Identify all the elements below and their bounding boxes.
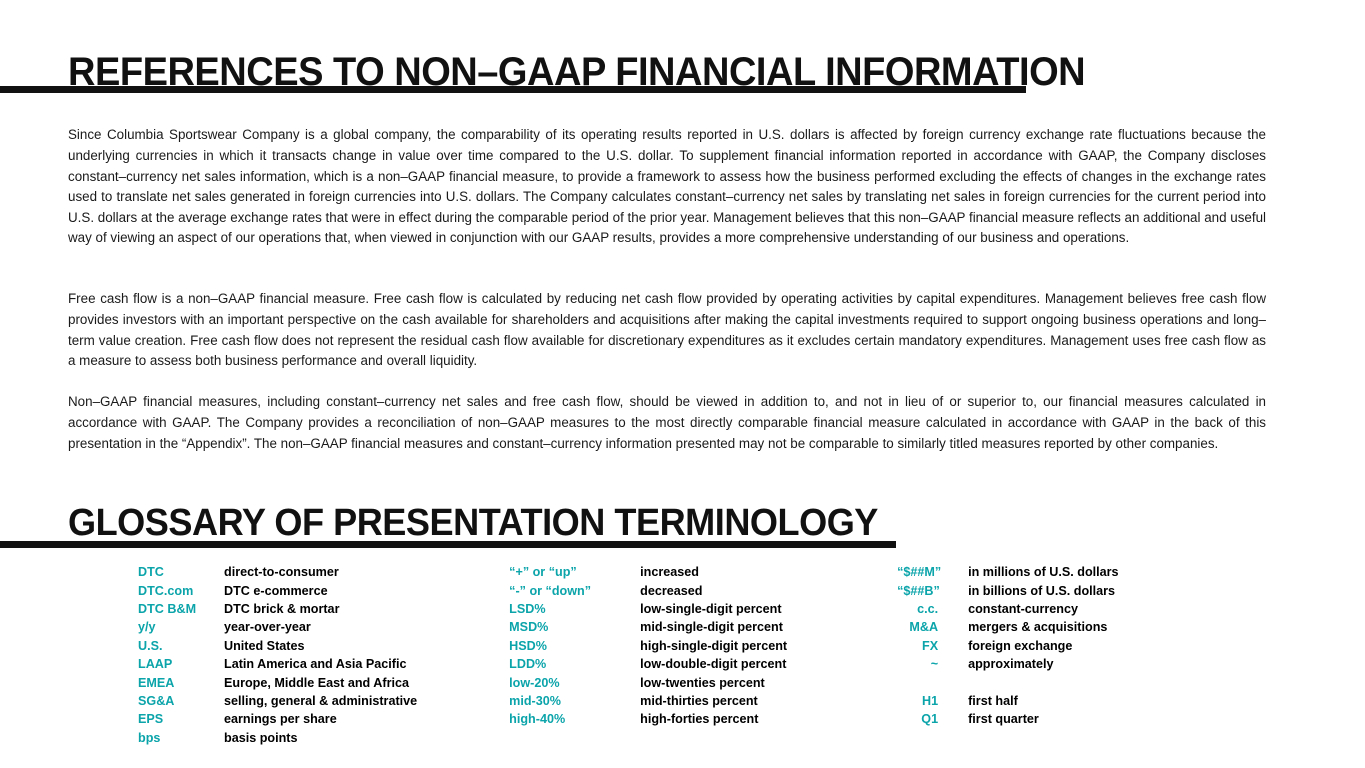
- glossary-definition: low-twenties percent: [640, 676, 787, 690]
- glossary-definition: mergers & acquisitions: [968, 620, 1118, 634]
- glossary-definition: increased: [640, 565, 787, 579]
- glossary-term: H1: [897, 694, 968, 708]
- glossary-term: EPS: [138, 712, 224, 726]
- glossary-definition: Europe, Middle East and Africa: [224, 676, 417, 690]
- glossary-term: U.S.: [138, 639, 224, 653]
- glossary-definition: mid-single-digit percent: [640, 620, 787, 634]
- glossary-term: FX: [897, 639, 968, 653]
- glossary-definition: earnings per share: [224, 712, 417, 726]
- glossary-term: low-20%: [509, 676, 640, 690]
- glossary-definition: low-single-digit percent: [640, 602, 787, 616]
- glossary-definition: high-single-digit percent: [640, 639, 787, 653]
- glossary-term: HSD%: [509, 639, 640, 653]
- title-divider-glossary: [0, 541, 896, 548]
- glossary-table: DTCdirect-to-consumerDTC.comDTC e-commer…: [0, 563, 1365, 747]
- glossary-term: “-” or “down”: [509, 584, 640, 598]
- glossary-term: LDD%: [509, 657, 640, 671]
- glossary-term: y/y: [138, 620, 224, 634]
- glossary-term: Q1: [897, 712, 968, 726]
- glossary-definition: year-over-year: [224, 620, 417, 634]
- glossary-term: ~: [897, 657, 968, 671]
- glossary-column-directional: “+” or “up”increased“-” or “down”decreas…: [509, 563, 787, 729]
- glossary-definition: foreign exchange: [968, 639, 1118, 653]
- glossary-definition: mid-thirties percent: [640, 694, 787, 708]
- glossary-term: LAAP: [138, 657, 224, 671]
- glossary-definition: direct-to-consumer: [224, 565, 417, 579]
- glossary-definition: basis points: [224, 731, 417, 745]
- glossary-definition: Latin America and Asia Pacific: [224, 657, 417, 671]
- glossary-definition: low-double-digit percent: [640, 657, 787, 671]
- glossary-definition: approximately: [968, 657, 1118, 671]
- glossary-definition: in billions of U.S. dollars: [968, 584, 1118, 598]
- glossary-definition: in millions of U.S. dollars: [968, 565, 1118, 579]
- glossary-definition: DTC e-commerce: [224, 584, 417, 598]
- glossary-term: DTC.com: [138, 584, 224, 598]
- glossary-term: DTC B&M: [138, 602, 224, 616]
- glossary-term: bps: [138, 731, 224, 745]
- glossary-definition: constant-currency: [968, 602, 1118, 616]
- glossary-term: “+” or “up”: [509, 565, 640, 579]
- glossary-definition: high-forties percent: [640, 712, 787, 726]
- title-divider-top: [0, 86, 1026, 93]
- glossary-definition: selling, general & administrative: [224, 694, 417, 708]
- glossary-term: MSD%: [509, 620, 640, 634]
- glossary-term: c.c.: [897, 602, 968, 616]
- glossary-term: high-40%: [509, 712, 640, 726]
- glossary-definition: United States: [224, 639, 417, 653]
- glossary-term: SG&A: [138, 694, 224, 708]
- paragraph-constant-currency: Since Columbia Sportswear Company is a g…: [68, 125, 1266, 249]
- glossary-definition: decreased: [640, 584, 787, 598]
- glossary-definition: first quarter: [968, 712, 1118, 726]
- glossary-column-units: “$##M”in millions of U.S. dollars“$##B”i…: [897, 563, 1118, 729]
- glossary-term: LSD%: [509, 602, 640, 616]
- glossary-definition: DTC brick & mortar: [224, 602, 417, 616]
- glossary-column-abbreviations: DTCdirect-to-consumerDTC.comDTC e-commer…: [138, 563, 417, 747]
- page-title-glossary: GLOSSARY OF PRESENTATION TERMINOLOGY: [68, 501, 878, 545]
- glossary-term: DTC: [138, 565, 224, 579]
- glossary-term: “$##M”: [897, 565, 968, 579]
- glossary-row-spacer: [897, 673, 1118, 691]
- paragraph-free-cash-flow: Free cash flow is a non–GAAP financial m…: [68, 289, 1266, 371]
- paragraph-non-gaap-disclaimer: Non–GAAP financial measures, including c…: [68, 392, 1266, 454]
- glossary-term: EMEA: [138, 676, 224, 690]
- glossary-term: “$##B”: [897, 584, 968, 598]
- glossary-definition: first half: [968, 694, 1118, 708]
- glossary-term: mid-30%: [509, 694, 640, 708]
- glossary-term: M&A: [897, 620, 968, 634]
